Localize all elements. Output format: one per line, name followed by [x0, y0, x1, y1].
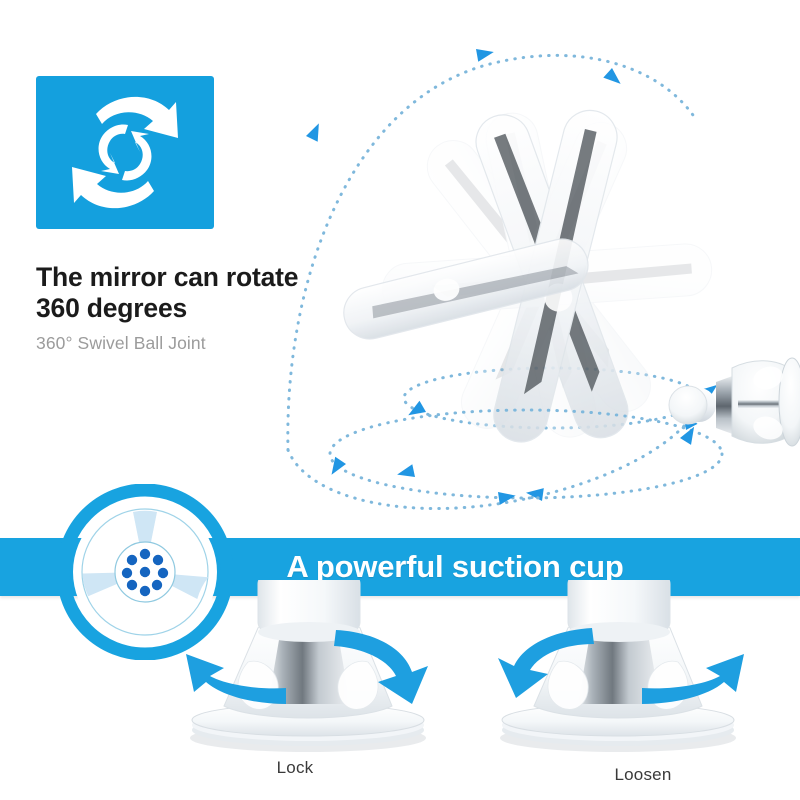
suction-cup-lock-label: Lock [195, 758, 395, 778]
suction-cup-loosen [470, 580, 770, 780]
mirror-360-rotation-diagram [280, 30, 800, 520]
suction-cup-lock [160, 580, 460, 780]
rotate-360-icon [36, 76, 214, 229]
product-feature-infographic: The mirror can rotate 360 degrees 360° S… [0, 0, 800, 800]
suction-cup-loosen-label: Loosen [543, 765, 743, 785]
